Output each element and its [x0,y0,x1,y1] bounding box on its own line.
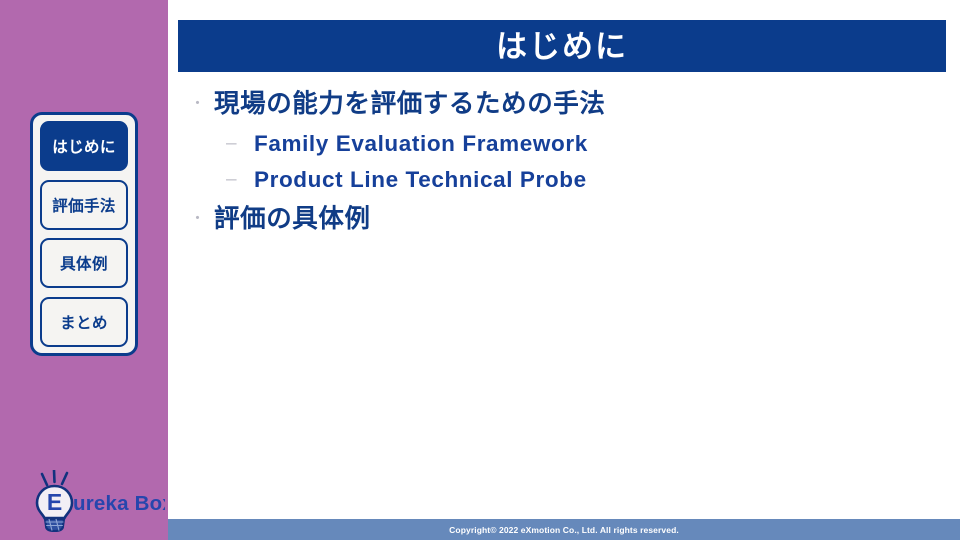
slide-canvas: はじめに 評価手法 具体例 まとめ [0,0,960,540]
sidebar-item-label: 具体例 [60,252,108,274]
copyright-text: Copyright© 2022 eXmotion Co., Ltd. All r… [449,525,679,535]
bullet-level2-text: Product Line Technical Probe [254,162,587,198]
bullet-level2-text: Family Evaluation Framework [254,126,588,162]
sidebar-item-label: 評価手法 [52,194,116,216]
sidebar-item-label: はじめに [52,135,116,157]
page-title: はじめに [496,31,628,62]
eureka-box-logo: E ureka Box [30,470,165,532]
lightbulb-icon: E ureka Box [30,470,165,532]
bullet-marker-icon: ・ [186,84,214,124]
logo-wordmark: ureka Box [73,492,165,515]
bullet-group: ・ 評価の具体例 [186,199,946,239]
sidebar-item-hyoka-shuho[interactable]: 評価手法 [40,180,128,230]
bullet-level1-text: 評価の具体例 [214,199,371,239]
bullet-level1: ・ 評価の具体例 [186,199,946,239]
bullet-marker-icon: ・ [186,199,214,239]
bullet-group: ・ 現場の能力を評価するための手法 – Family Evaluation Fr… [186,84,946,198]
bullet-level1-text: 現場の能力を評価するための手法 [214,84,606,124]
slide-title-banner: はじめに [178,20,946,72]
dash-marker-icon: – [186,162,254,198]
slide-footer: Copyright© 2022 eXmotion Co., Ltd. All r… [168,519,960,540]
sidebar-item-hajimeni[interactable]: はじめに [40,121,128,171]
slide-body: ・ 現場の能力を評価するための手法 – Family Evaluation Fr… [186,84,946,241]
section-nav-panel: はじめに 評価手法 具体例 まとめ [30,112,138,356]
logo-letter: E [47,489,62,515]
sidebar-item-matome[interactable]: まとめ [40,297,128,347]
dash-marker-icon: – [186,126,254,162]
sidebar-item-gutairei[interactable]: 具体例 [40,238,128,288]
bullet-level1: ・ 現場の能力を評価するための手法 [186,84,946,124]
bullet-level2: – Family Evaluation Framework [186,126,946,162]
bullet-level2: – Product Line Technical Probe [186,162,946,198]
sidebar-item-label: まとめ [60,311,108,333]
